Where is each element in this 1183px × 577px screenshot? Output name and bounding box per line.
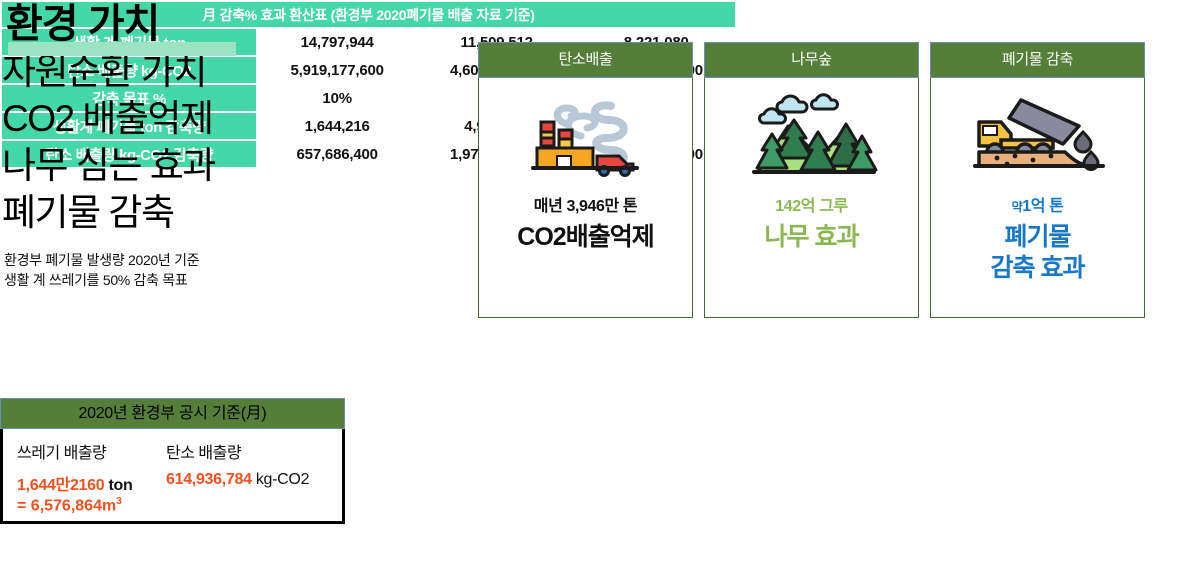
card-carbon-kicker: 매년 3,946만 톤 — [479, 192, 692, 216]
card-forest-kicker: 142억 그루 — [705, 192, 918, 216]
card-carbon-header: 탄소배출 — [478, 42, 693, 78]
title-wrap: 환경 가치 — [4, 0, 420, 46]
headline-footnote: 환경부 폐기물 발생량 2020년 기준 생활 계 쓰레기를 50% 감축 목표 — [4, 250, 420, 290]
waste-emission-column: 쓰레기 배출량 1,644만2160 ton = 6,576,864m3 — [17, 439, 133, 515]
headline-line-4: 폐기물 감축 — [2, 189, 420, 236]
dump-truck-icon — [931, 84, 1144, 184]
waste-volume-number: = 6,576,864 — [17, 497, 102, 514]
footnote-line-1: 환경부 폐기물 발생량 2020년 기준 — [4, 250, 420, 270]
forest-trees-icon — [705, 84, 918, 184]
waste-volume-unit: m — [102, 497, 116, 514]
card-waste-main: 폐기물 감축 효과 — [931, 222, 1144, 284]
waste-emission-number: 1,644만2160 — [17, 477, 104, 494]
headline-line-2: CO2 배출억제 — [2, 95, 420, 142]
waste-volume-value: = 6,576,864m3 — [17, 496, 133, 515]
card-waste-header: 폐기물 감축 — [930, 42, 1145, 78]
carbon-emission-number: 614,936,784 — [166, 471, 252, 488]
card-forest-header: 나무숲 — [704, 42, 919, 78]
waste-volume-unit-exponent: 3 — [116, 496, 122, 507]
card-carbon-body: 매년 3,946만 톤 CO2배출억제 — [478, 78, 693, 318]
gov-panel-header: 2020년 환경부 공시 기준(月) — [0, 398, 345, 429]
card-waste-body: 약1억 톤 폐기물 감축 효과 — [930, 78, 1145, 318]
headline-block: 환경 가치 자원순환 가치 CO2 배출억제 나무 심는 효과 폐기물 감축 환… — [0, 0, 420, 290]
card-waste-kicker-value: 1억 톤 — [1022, 198, 1063, 215]
impact-cards: 탄소배출 — [478, 42, 1166, 320]
card-forest[interactable]: 나무숲 — [704, 42, 919, 318]
card-waste-kicker-prefix: 약 — [1012, 200, 1023, 214]
carbon-emission-unit: kg-CO2 — [256, 471, 309, 488]
footnote-line-2: 생활 계 쓰레기를 50% 감축 목표 — [4, 270, 420, 290]
carbon-emission-column: 탄소 배출량 614,936,784 kg-CO2 — [166, 439, 309, 489]
waste-emission-unit: ton — [109, 477, 133, 494]
card-waste-main-line-1: 폐기물 — [931, 222, 1144, 253]
gov-panel-body: 쓰레기 배출량 1,644만2160 ton = 6,576,864m3 탄소 … — [0, 429, 345, 524]
page-title: 환경 가치 — [4, 0, 420, 46]
waste-emission-value: 1,644만2160 ton — [17, 471, 133, 495]
card-carbon-main: CO2배출억제 — [479, 222, 692, 253]
waste-emission-label: 쓰레기 배출량 — [17, 439, 133, 463]
card-waste-kicker: 약1억 톤 — [931, 192, 1144, 216]
card-forest-body: 142억 그루 나무 효과 — [704, 78, 919, 318]
card-waste-main-line-2: 감축 효과 — [931, 253, 1144, 284]
factory-smoke-icon — [479, 84, 692, 184]
carbon-emission-value: 614,936,784 kg-CO2 — [166, 471, 309, 489]
card-waste-reduction[interactable]: 폐기물 감축 — [930, 42, 1145, 318]
card-forest-main: 나무 효과 — [705, 222, 918, 253]
government-basis-panel: 2020년 환경부 공시 기준(月) 쓰레기 배출량 1,644만2160 to… — [0, 398, 345, 524]
card-carbon-emission[interactable]: 탄소배출 — [478, 42, 693, 318]
headline-subtitle-list: 자원순환 가치 CO2 배출억제 나무 심는 효과 폐기물 감축 — [2, 48, 420, 236]
carbon-emission-label: 탄소 배출량 — [166, 439, 309, 463]
headline-line-3: 나무 심는 효과 — [2, 142, 420, 189]
